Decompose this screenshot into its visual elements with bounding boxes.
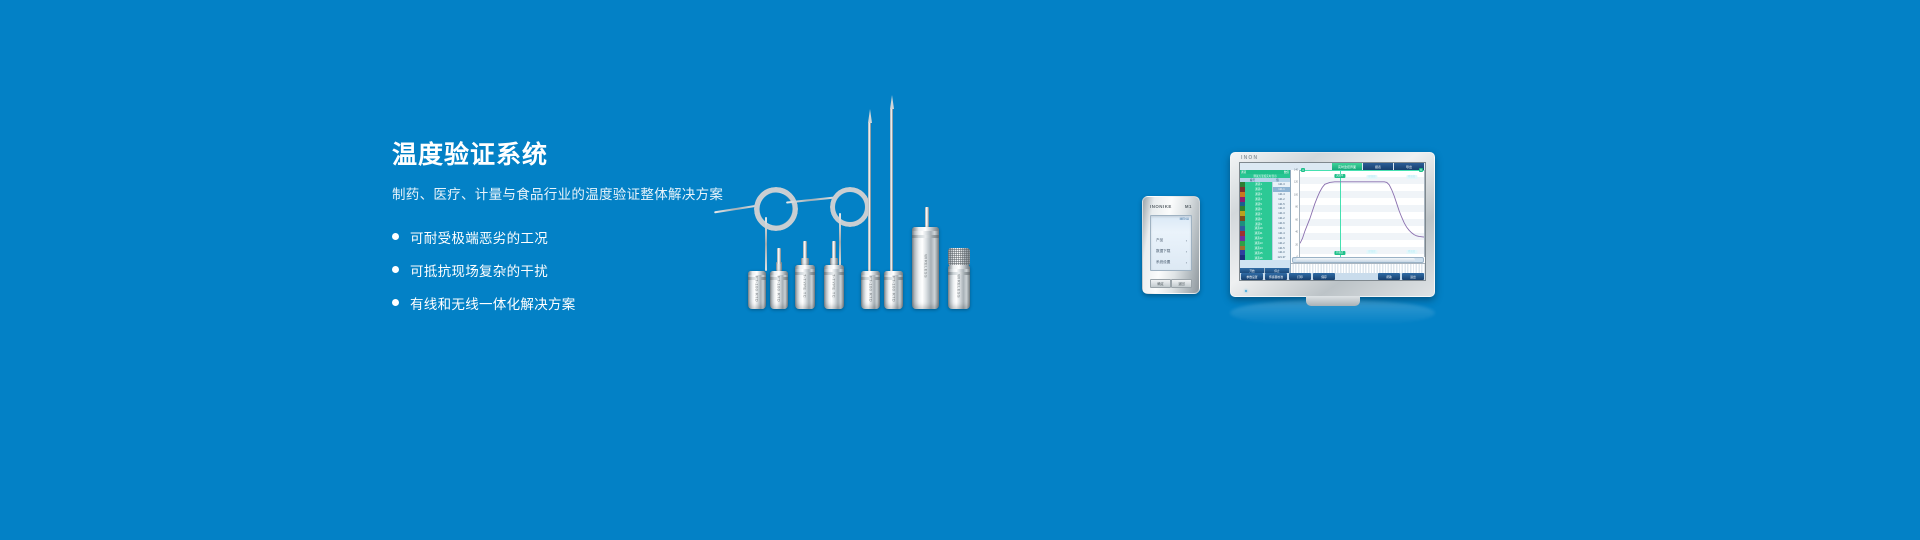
list-item[interactable]: 系统设置 › — [1156, 260, 1187, 265]
logger-label: PT-100 RTD — [891, 276, 896, 302]
hero-subtitle: 制药、医疗、计量与食品行业的温度验证整体解决方案 — [392, 186, 812, 205]
help-button[interactable]: 帮助 — [1378, 273, 1400, 280]
table-row[interactable]: 通道16121.37 — [1240, 255, 1290, 260]
scrollbar-thumb[interactable] — [1296, 258, 1416, 262]
footer-spacer — [1336, 273, 1377, 280]
logger-label: WIRELESS — [957, 274, 962, 298]
axis-tick-label: 120 — [1294, 181, 1298, 184]
bullet-dot-icon — [392, 299, 399, 306]
monitor-bezel: INON 实时监控界面 报表 导出 通道 数值 — [1230, 152, 1435, 297]
axis-tick-label: 20 — [1295, 243, 1298, 246]
handheld-reader[interactable]: INONIKE M1 MENU 产品 › 数据下载 › 系统设置 › — [1142, 196, 1200, 294]
handheld-brand: INONIKE — [1150, 204, 1172, 209]
handheld-keypad: 确定 返回 — [1150, 279, 1192, 288]
logger-label: T-TYPE TC — [832, 274, 837, 298]
list-item[interactable]: 产品 › — [1156, 238, 1187, 243]
data-logger: T-TYPE TC — [824, 265, 844, 309]
monitor-display: INON 实时监控界面 报表 导出 通道 数值 — [1230, 152, 1435, 297]
handheld-screen-title: MENU — [1180, 217, 1189, 221]
x-axis — [1291, 263, 1425, 273]
bullet-dot-icon — [392, 266, 399, 273]
hero-banner: 温度验证系统 制药、医疗、计量与食品行业的温度验证整体解决方案 可耐受极端恶劣的… — [0, 0, 1920, 540]
bullet-dot-icon — [392, 233, 399, 240]
app-tab-bar: 实时监控界面 报表 导出 — [1240, 163, 1425, 170]
chart-plot-main: 020406080100120140 灭菌中 开始点 A B 保温段 降温段 — [1291, 170, 1425, 257]
handheld-screen: MENU 产品 › 数据下载 › 系统设置 › — [1150, 215, 1192, 271]
feature-list: 可耐受极端恶劣的工况 可抵抗现场复杂的干扰 有线和无线一体化解决方案 — [392, 227, 812, 313]
tab-realtime[interactable]: 实时监控界面 — [1332, 163, 1362, 170]
logger-stem — [925, 207, 929, 229]
calibrate-button[interactable]: 传感器校准 — [1265, 273, 1287, 280]
logger-neck — [830, 258, 838, 265]
coil-ring-shape — [830, 187, 870, 227]
data-logger: WIRELESS — [912, 227, 939, 309]
tab-report[interactable]: 报表 — [1363, 163, 1393, 170]
handheld-brand-row: INONIKE M1 — [1143, 204, 1199, 209]
page-title: 温度验证系统 — [392, 140, 812, 170]
data-logger: PT-100 RTD — [884, 271, 903, 309]
chart-plot[interactable]: 灭菌中 开始点 A B 保温段 降温段 保温段 降温段 — [1300, 170, 1425, 257]
settings-button[interactable]: 参数设置 — [1241, 273, 1263, 280]
channel-value: 121.37 — [1272, 255, 1290, 260]
channel-list[interactable]: 通道1121.3通道2121.1通道3121.4通道4121.2通道5121.5… — [1240, 182, 1290, 268]
exit-button[interactable]: 退出 — [1402, 273, 1424, 280]
axis-tick-label: 100 — [1294, 193, 1298, 196]
menu-label: 产品 — [1156, 238, 1163, 243]
confirm-button[interactable]: 确定 — [1150, 279, 1171, 288]
needle-probe — [868, 123, 871, 271]
feature-label: 有线和无线一体化解决方案 — [410, 293, 576, 313]
menu-label: 系统设置 — [1156, 260, 1170, 265]
app-footer-toolbar: 参数设置 传感器校准 打印 保存 帮助 退出 — [1240, 273, 1425, 280]
logger-mesh-cap — [948, 248, 970, 266]
software-screen: 实时监控界面 报表 导出 通道 数值 测试点温度实时显示 编号 — [1239, 162, 1426, 281]
chevron-right-icon: › — [1186, 261, 1187, 265]
handheld-model: M1 — [1185, 204, 1192, 209]
logger-label: WIRELESS — [923, 254, 928, 278]
hero-copy: 温度验证系统 制药、医疗、计量与食品行业的温度验证整体解决方案 可耐受极端恶劣的… — [392, 140, 812, 326]
power-led-icon — [1245, 290, 1247, 292]
data-logger: WIRELESS — [948, 265, 970, 309]
temperature-curve-svg — [1300, 170, 1424, 257]
list-item[interactable]: 数据下载 › — [1156, 249, 1187, 254]
print-button[interactable]: 打印 — [1289, 273, 1311, 280]
handheld-menu: 产品 › 数据下载 › 系统设置 › — [1156, 238, 1187, 271]
logger-band — [912, 235, 939, 238]
axis-tick-label: 40 — [1295, 231, 1298, 234]
feature-label: 可抵抗现场复杂的干扰 — [410, 260, 548, 280]
tab-bar-spacer — [1240, 163, 1332, 170]
list-item: 可耐受极端恶劣的工况 — [392, 227, 812, 247]
coil-probe-lead — [839, 213, 841, 271]
logger-label: PT-100 RTD — [868, 276, 873, 302]
needle-probe — [890, 109, 893, 271]
coil-probe-ring — [830, 187, 860, 217]
list-item: 可抵抗现场复杂的干扰 — [392, 260, 812, 280]
horizontal-scrollbar[interactable] — [1292, 257, 1424, 263]
chart-area: 020406080100120140 灭菌中 开始点 A B 保温段 降温段 — [1291, 170, 1425, 273]
data-logger: PT-100 RTD — [861, 271, 880, 309]
app-body: 通道 数值 测试点温度实时显示 编号 值 通道1121.3通道2121.1通道3… — [1240, 170, 1425, 273]
axis-tick-label: 140 — [1294, 169, 1298, 172]
save-button[interactable]: 保存 — [1313, 273, 1335, 280]
list-item: 有线和无线一体化解决方案 — [392, 293, 812, 313]
monitor-stand — [1306, 296, 1360, 306]
menu-label: 数据下载 — [1156, 249, 1170, 254]
chevron-right-icon: › — [1186, 239, 1187, 243]
back-button[interactable]: 返回 — [1171, 279, 1192, 288]
monitor-brand-logo: INON — [1241, 155, 1258, 161]
feature-label: 可耐受极端恶劣的工况 — [410, 227, 548, 247]
axis-tick-label: 80 — [1295, 206, 1298, 209]
channel-name: 通道16 — [1245, 255, 1272, 260]
chevron-right-icon: › — [1186, 250, 1187, 254]
channel-panel: 通道 数值 测试点温度实时显示 编号 值 通道1121.3通道2121.1通道3… — [1240, 170, 1291, 273]
y-axis: 020406080100120140 — [1291, 170, 1300, 257]
axis-tick-label: 60 — [1295, 218, 1298, 221]
